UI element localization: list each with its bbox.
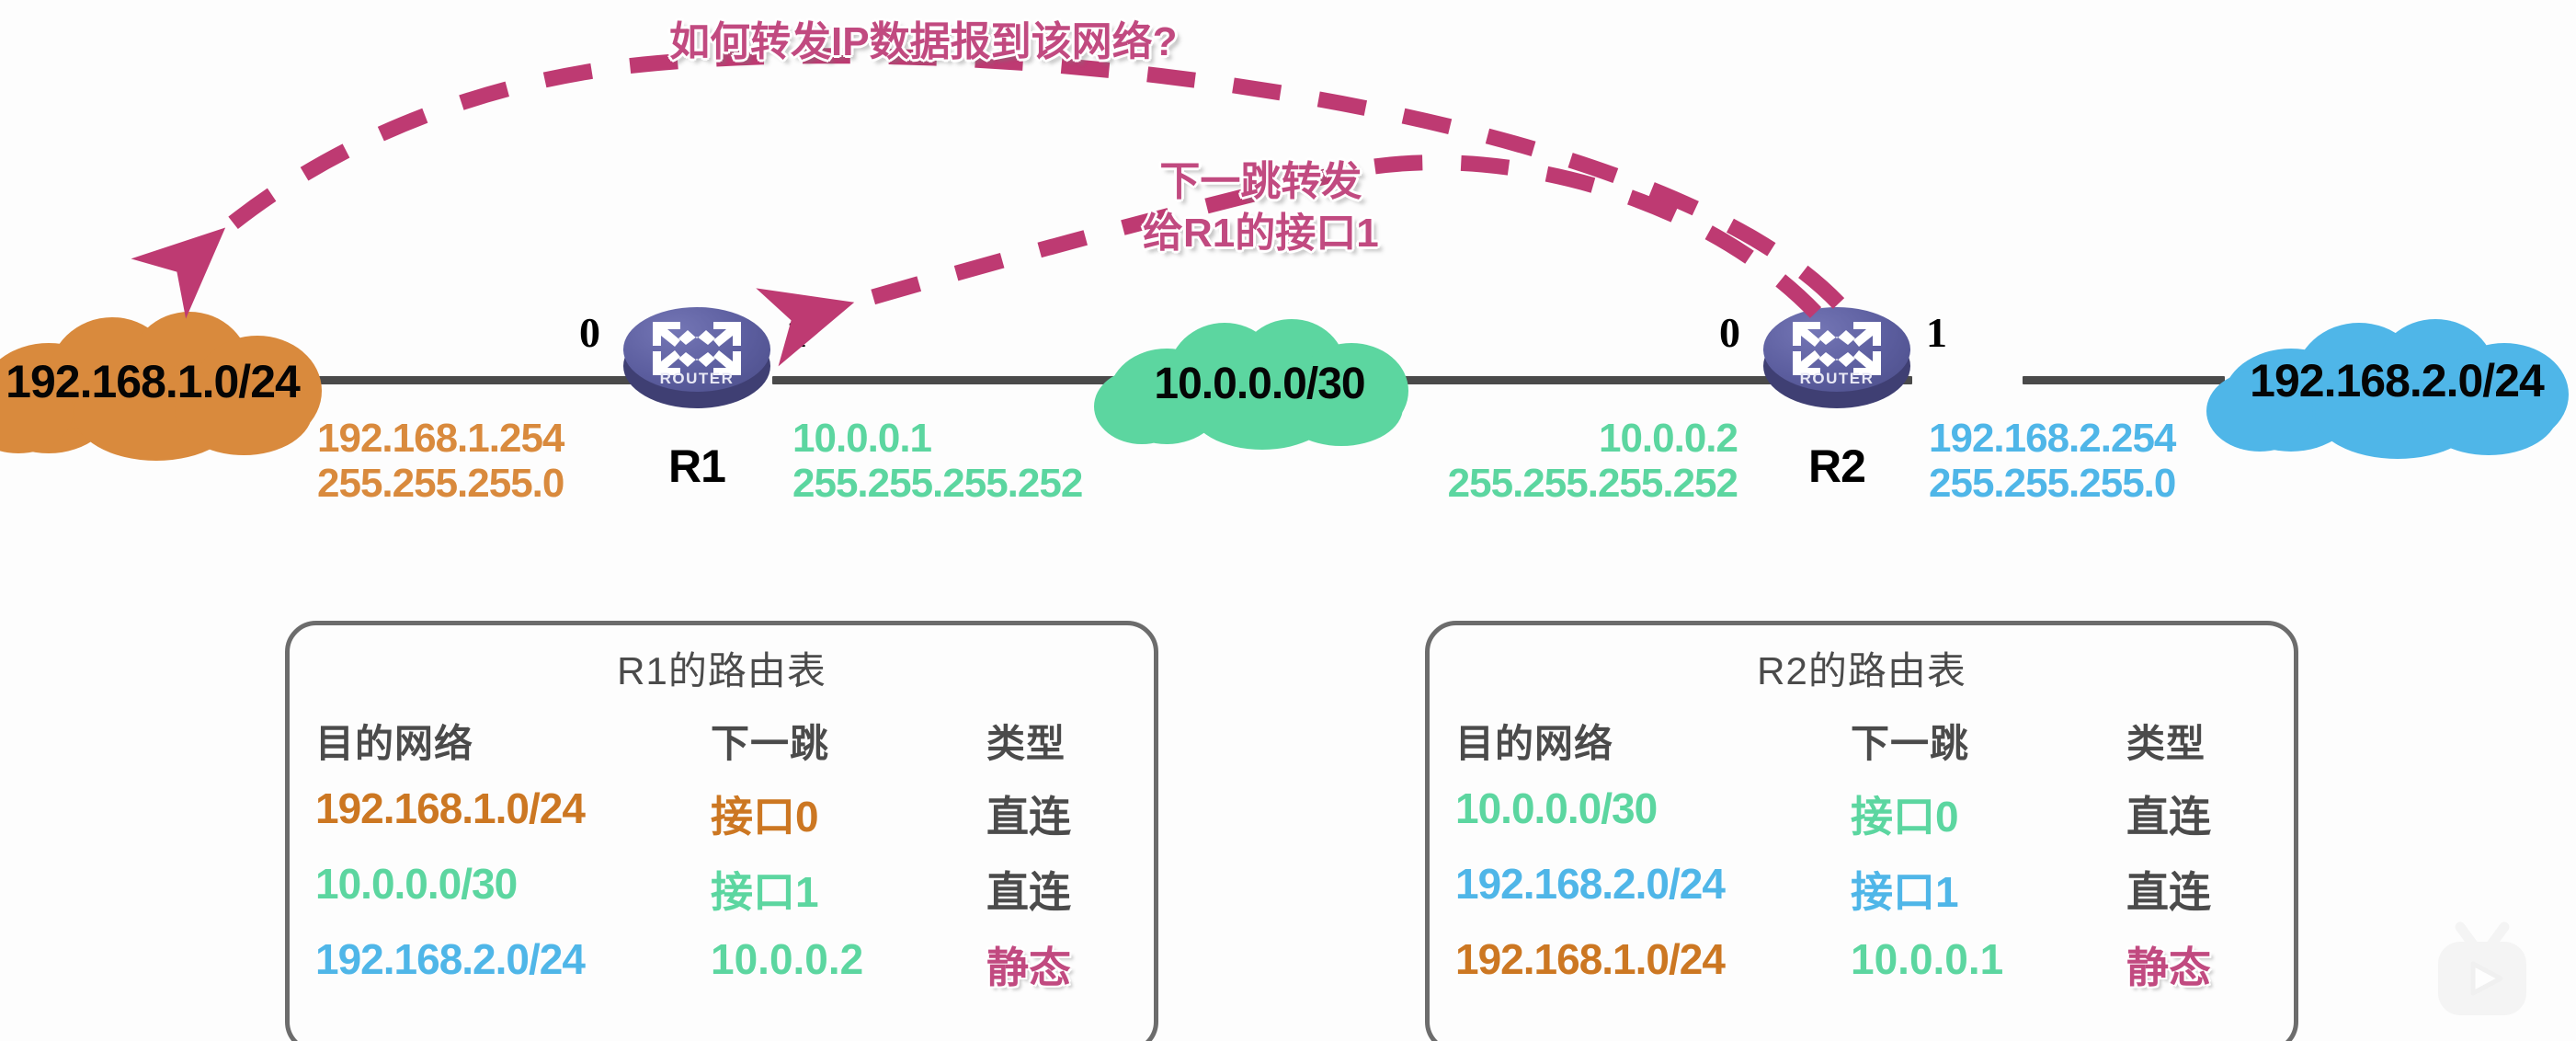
r2-if0-address: 10.0.0.2 255.255.255.252	[1407, 416, 1738, 507]
r2-port-0-label: 0	[1719, 308, 1740, 357]
r2-routing-table: R2的路由表 目的网络 下一跳 类型 10.0.0.0/30 接口0 直连 19…	[1425, 621, 2298, 1041]
r1-name-label: R1	[668, 440, 725, 493]
network-cloud-192-168-2-0: 192.168.2.0/24	[2206, 317, 2576, 460]
r2-port-1-label: 1	[1926, 308, 1947, 357]
r2-if0-ip: 10.0.0.2	[1407, 416, 1738, 461]
table-row: 192.168.2.0/24	[315, 934, 711, 995]
network-cloud-192-168-1-0: 192.168.1.0/24	[0, 308, 349, 460]
table-header-type: 类型	[986, 713, 1180, 769]
table-row: 192.168.1.0/24	[315, 784, 711, 844]
status-badge: 静态	[2126, 934, 2320, 995]
arrow-question-to-left-network	[198, 56, 1839, 303]
network-cloud-label: 10.0.0.0/30	[1154, 359, 1364, 409]
r1-port-1-label: 1	[786, 308, 807, 357]
table-row: 直连	[986, 859, 1180, 920]
table-header-dest: 目的网络	[315, 713, 711, 769]
r1-if1-ip: 10.0.0.1	[792, 416, 1082, 461]
table-row: 接口1	[711, 859, 986, 920]
r1-if1-address: 10.0.0.1 255.255.255.252	[792, 416, 1082, 507]
table-row: 直连	[2126, 784, 2320, 844]
bilibili-tv-watermark	[2427, 920, 2537, 1027]
router-r2[interactable]: ROUTER	[1763, 303, 1910, 414]
wire-r2-to-right	[2023, 376, 2225, 384]
r2-if0-mask: 255.255.255.252	[1407, 461, 1738, 506]
callout-question: 如何转发IP数据报到该网络?	[669, 17, 1177, 68]
r2-name-label: R2	[1808, 440, 1865, 493]
callout-nexthop-note: 下一跳转发 给R1的接口1	[1143, 156, 1379, 260]
table-header-nexthop: 下一跳	[1851, 713, 2126, 769]
table-row: 直连	[2126, 859, 2320, 920]
network-diagram-canvas: 192.168.1.0/24 10.0.0.0/30 192.168.2.0/2…	[0, 0, 2576, 1041]
table-row: 10.0.0.2	[711, 934, 986, 995]
status-badge: 静态	[986, 934, 1180, 995]
r2-routing-table-title: R2的路由表	[1455, 640, 2268, 696]
r1-if0-ip: 192.168.1.254	[317, 416, 564, 461]
callout-nexthop-line-2: 给R1的接口1	[1143, 208, 1379, 259]
r1-if1-mask: 255.255.255.252	[792, 461, 1082, 506]
callout-nexthop-line-1: 下一跳转发	[1143, 156, 1379, 208]
tv-play-icon	[2427, 920, 2537, 1023]
r1-if0-address: 192.168.1.254 255.255.255.0	[317, 416, 564, 507]
r2-if1-address: 192.168.2.254 255.255.255.0	[1929, 416, 2175, 507]
table-row: 192.168.2.0/24	[1455, 859, 1851, 920]
network-cloud-10-0-0-0: 10.0.0.0/30	[1094, 317, 1425, 453]
table-header-dest: 目的网络	[1455, 713, 1851, 769]
table-row: 接口0	[711, 784, 986, 844]
network-cloud-label: 192.168.2.0/24	[2250, 354, 2544, 407]
r1-port-0-label: 0	[579, 308, 600, 357]
r1-if0-mask: 255.255.255.0	[317, 461, 564, 506]
r1-routing-table-title: R1的路由表	[315, 640, 1128, 696]
table-row: 10.0.0.0/30	[1455, 784, 1851, 844]
table-row: 10.0.0.1	[1851, 934, 2126, 995]
router-icon-label: ROUTER	[623, 370, 770, 388]
r2-if1-ip: 192.168.2.254	[1929, 416, 2175, 461]
network-cloud-label: 192.168.1.0/24	[6, 355, 300, 408]
r2-routing-table-grid: 目的网络 下一跳 类型 10.0.0.0/30 接口0 直连 192.168.2…	[1455, 713, 2268, 995]
table-row: 10.0.0.0/30	[315, 859, 711, 920]
r2-if1-mask: 255.255.255.0	[1929, 461, 2175, 506]
table-row: 192.168.1.0/24	[1455, 934, 1851, 995]
router-r1[interactable]: ROUTER	[623, 303, 770, 414]
table-row: 直连	[986, 784, 1180, 844]
table-row: 接口1	[1851, 859, 2126, 920]
router-icon-label: ROUTER	[1763, 370, 1910, 388]
r1-routing-table: R1的路由表 目的网络 下一跳 类型 192.168.1.0/24 接口0 直连…	[285, 621, 1158, 1041]
r1-routing-table-grid: 目的网络 下一跳 类型 192.168.1.0/24 接口0 直连 10.0.0…	[315, 713, 1128, 995]
table-header-type: 类型	[2126, 713, 2320, 769]
table-row: 接口0	[1851, 784, 2126, 844]
table-header-nexthop: 下一跳	[711, 713, 986, 769]
